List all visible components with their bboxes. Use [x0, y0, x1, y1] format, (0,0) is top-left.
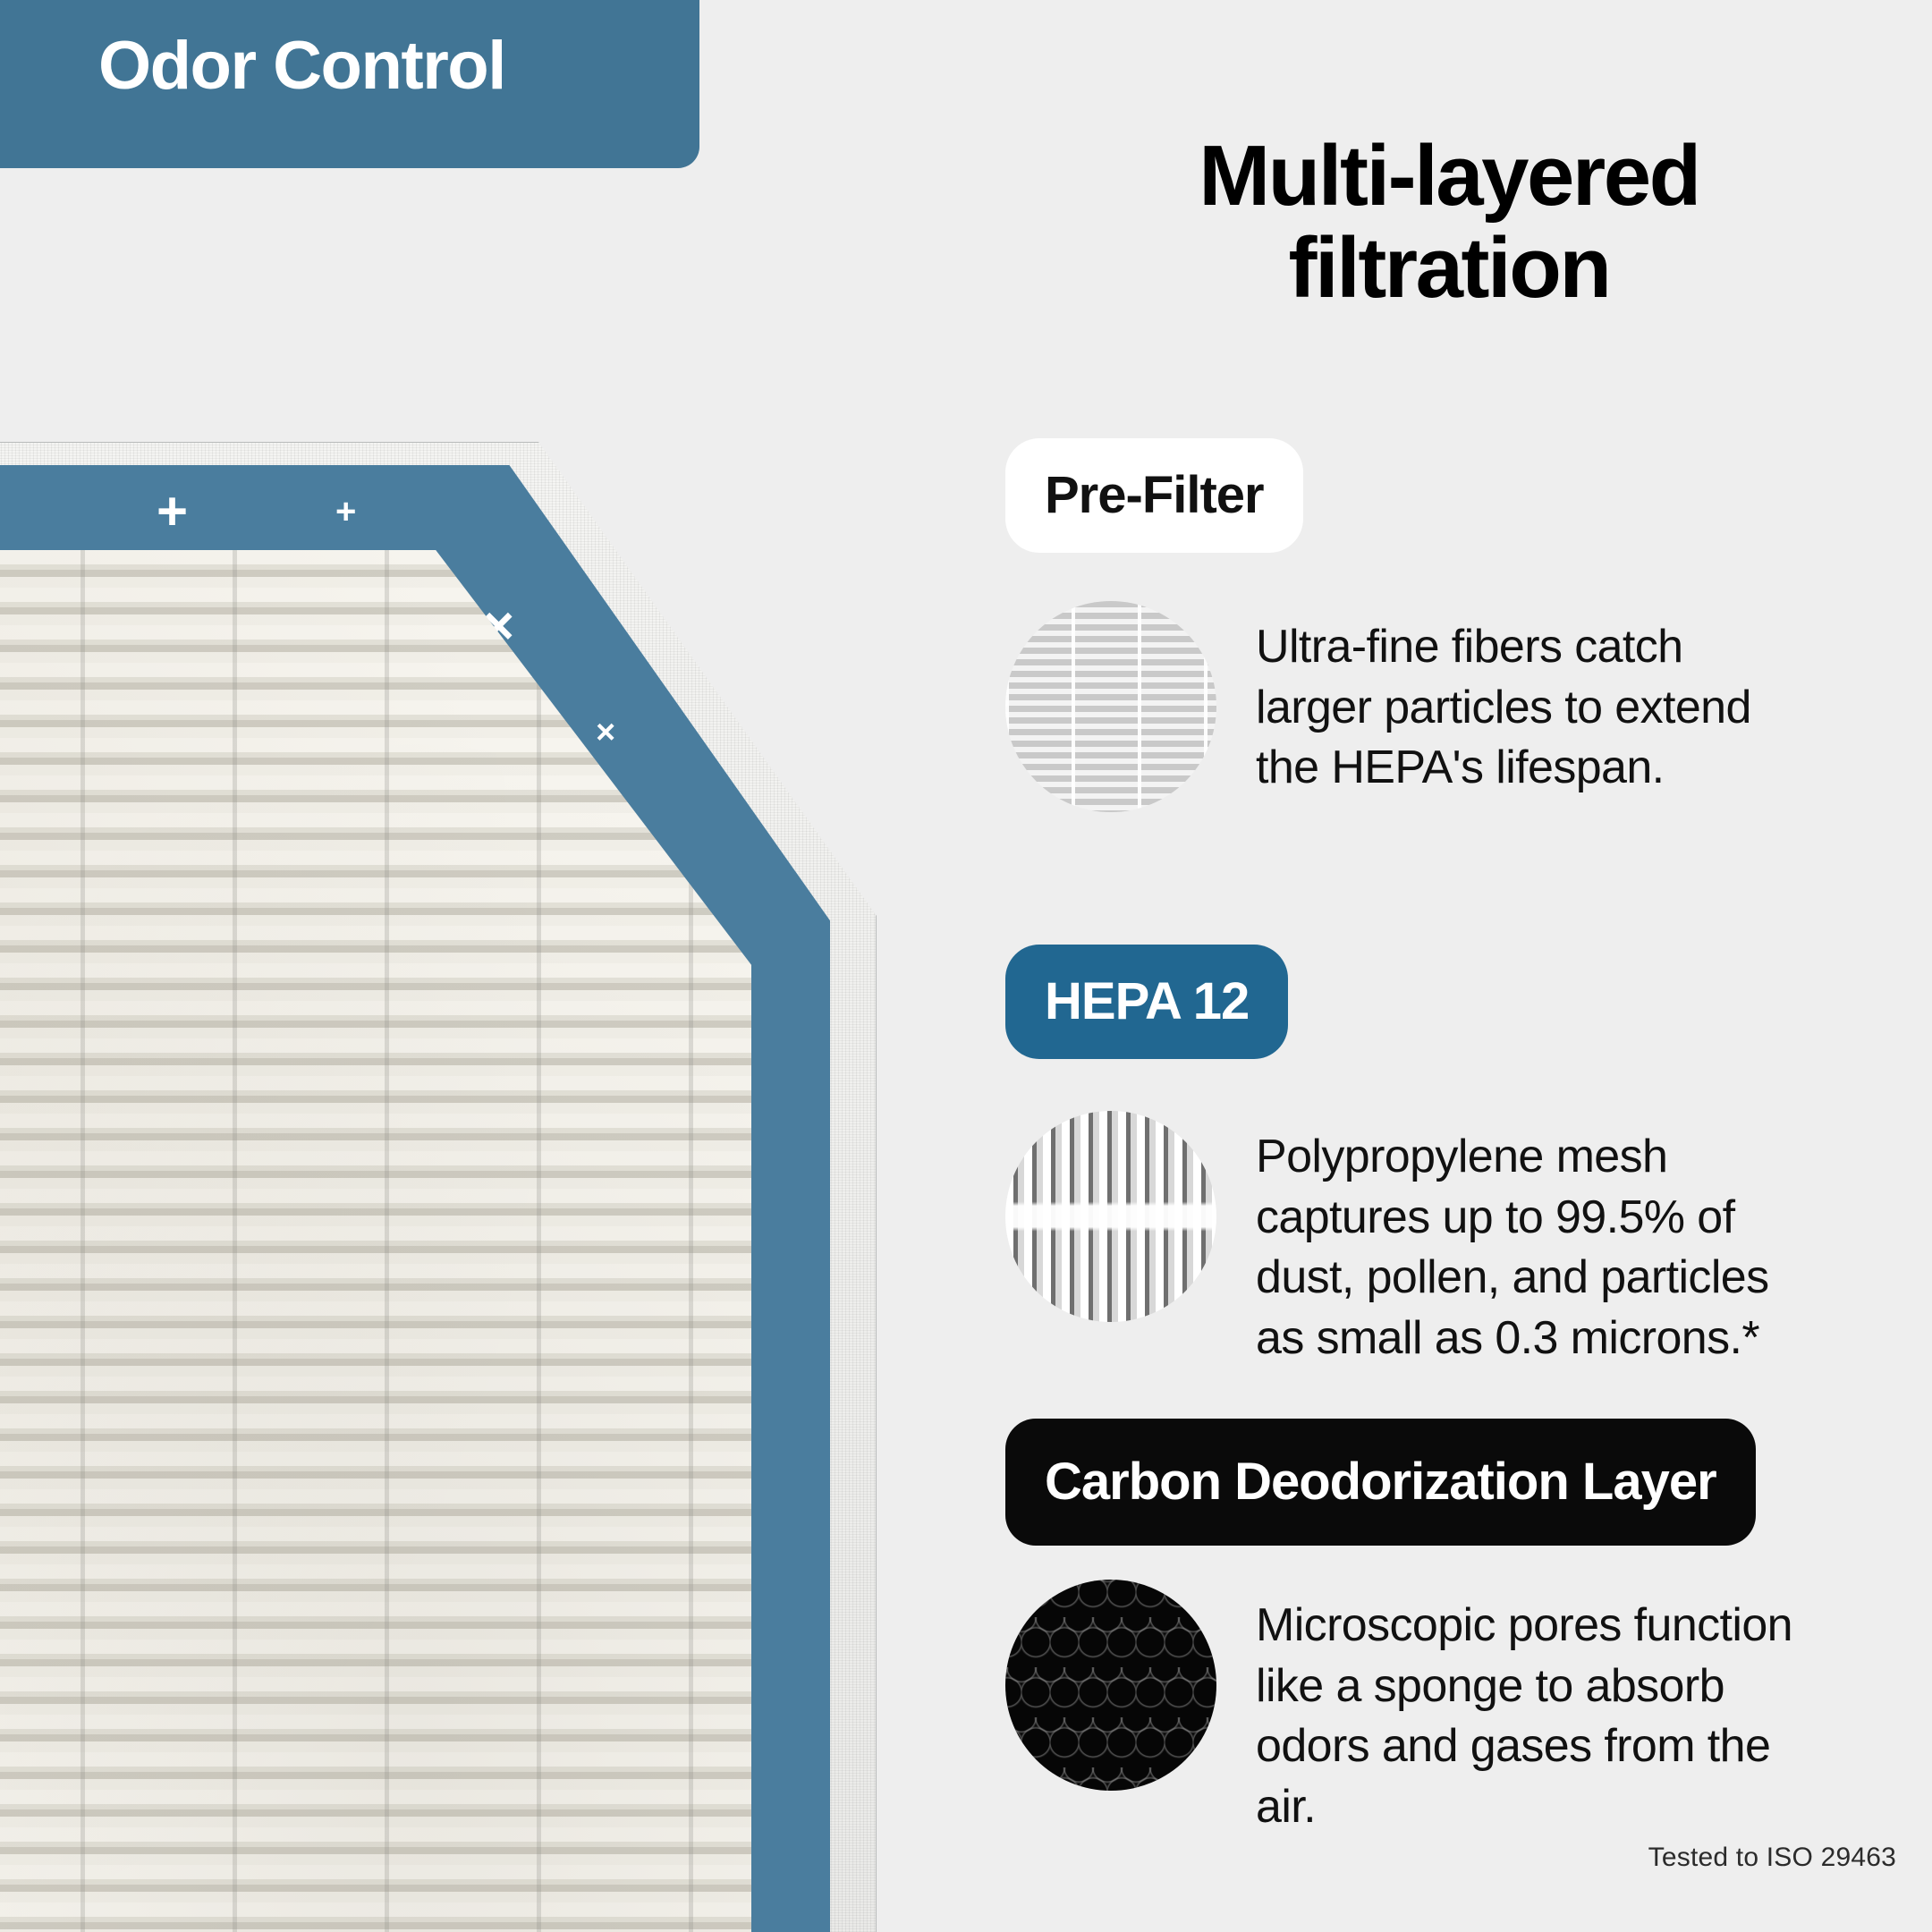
- odor-control-label: Odor Control: [98, 32, 505, 100]
- odor-control-badge: Odor Control: [0, 0, 699, 168]
- frame-plus-icon-2: +: [335, 494, 356, 530]
- hepa-12-description: Polypropylene mesh captures up to 99.5% …: [1256, 1111, 1810, 1368]
- badge-pre-filter[interactable]: Pre-Filter: [1005, 438, 1303, 553]
- frame-plus-icon-6: +: [645, 1501, 665, 1535]
- frame-plus-icon-1: +: [157, 485, 188, 538]
- frame-cross-icon-2: ×: [596, 716, 615, 750]
- carbon-cell-grid: [1005, 1580, 1216, 1791]
- layer-hepa-12-body: Polypropylene mesh captures up to 99.5% …: [1005, 1111, 1810, 1368]
- page-title-line-2: filtration: [1002, 223, 1896, 315]
- filter-pleated-media: [0, 550, 751, 1932]
- badge-hepa-12[interactable]: HEPA 12: [1005, 945, 1288, 1059]
- layer-carbon: Carbon Deodorization Layer: [1005, 1419, 1756, 1546]
- badge-carbon-deodorization-label: Carbon Deodorization Layer: [1045, 1456, 1716, 1508]
- filter-outer-frame: [0, 442, 877, 1932]
- frame-cross-icon-1: ×: [483, 599, 514, 653]
- hepa-pleat-swatch: [1005, 1111, 1216, 1322]
- product-photo: + + × × + + + +: [0, 0, 984, 1932]
- layer-pre-filter-body: Ultra-fine fibers catch larger particles…: [1005, 601, 1810, 812]
- footnote-iso: Tested to ISO 29463: [1648, 1843, 1896, 1873]
- layer-pre-filter: Pre-Filter: [1005, 438, 1303, 553]
- carbon-honeycomb-swatch: [1005, 1580, 1216, 1791]
- filter-blue-frame: + + × × + + + +: [0, 465, 830, 1932]
- frame-plus-icon-5: +: [638, 1268, 668, 1320]
- badge-pre-filter-label: Pre-Filter: [1045, 470, 1264, 521]
- layer-hepa-12: HEPA 12: [1005, 945, 1288, 1059]
- badge-hepa-12-label: HEPA 12: [1045, 976, 1249, 1028]
- carbon-description: Microscopic pores function like a sponge…: [1256, 1580, 1810, 1837]
- layer-carbon-body: Microscopic pores function like a sponge…: [1005, 1580, 1810, 1837]
- pre-filter-mesh-swatch: [1005, 601, 1216, 812]
- page-title: Multi-layered filtration: [1002, 131, 1896, 314]
- frame-plus-icon-3: +: [638, 855, 668, 907]
- frame-plus-icon-4: +: [645, 1066, 665, 1100]
- badge-carbon-deodorization[interactable]: Carbon Deodorization Layer: [1005, 1419, 1756, 1546]
- pre-filter-description: Ultra-fine fibers catch larger particles…: [1256, 601, 1810, 799]
- infographic-page: + + × × + + + + Odor Control Multi-layer…: [0, 0, 1932, 1932]
- page-title-line-1: Multi-layered: [1002, 131, 1896, 223]
